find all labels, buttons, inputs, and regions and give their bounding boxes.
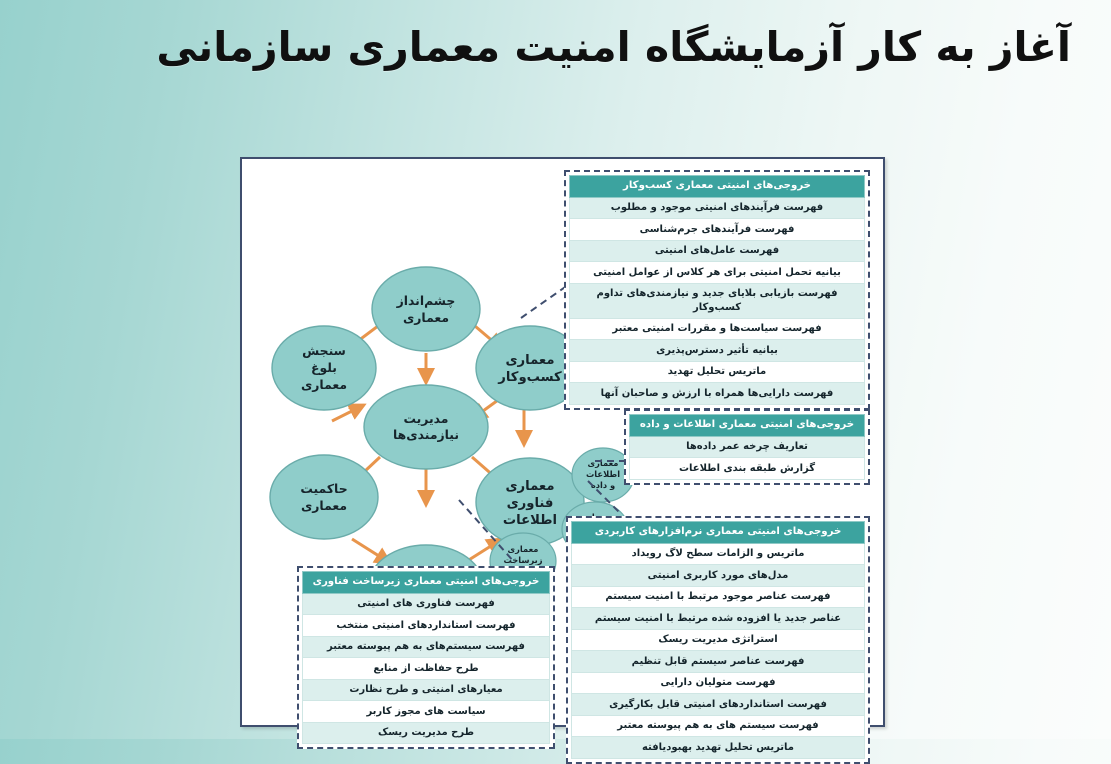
table-row: فهرست فناوری های امنیتی [303, 593, 550, 615]
node-center-label-line1: مدیریت [404, 411, 449, 426]
node-vision-label-line2: معماری [403, 310, 449, 325]
table-business-body: فهرست فرآیندهای امنیتی موجود و مطلوب فهر… [570, 197, 865, 404]
node-business-label-line1: معماری [505, 353, 554, 368]
table-row: فهرست عامل‌های امنیتی [570, 240, 865, 262]
table-row: فهرست سیستم‌های به هم پیوسته معتبر [303, 636, 550, 658]
node-maturity-label-line1: سنجش [302, 343, 346, 358]
table-row: مدل‌های مورد کاربری امنیتی [572, 565, 865, 587]
table-row: ماتریس و الزامات سطح لاگ رویداد [572, 543, 865, 565]
table-row: فهرست فرآیندهای امنیتی موجود و مطلوب [570, 197, 865, 219]
table-row: فهرست متولیان دارایی [572, 672, 865, 694]
table-row: طرح حفاظت از منابع [303, 658, 550, 680]
node-maturity-label-line2: بلوغ [311, 360, 337, 375]
table-row: فهرست استانداردهای امنیتی منتخب [303, 615, 550, 637]
node-maturity-label-line3: معماری [301, 377, 347, 392]
table-row: فهرست فرآیندهای جرم‌شناسی [570, 219, 865, 241]
table-business-header: خروجی‌های امنیتی معماری کسب‌وکار [570, 176, 865, 198]
node-architecture-vision[interactable] [372, 267, 480, 351]
table-data-header: خروجی‌های امنیتی معماری اطلاعات و داده [630, 415, 865, 437]
table-row: سیاست های مجوز کاربر [303, 701, 550, 723]
node-it-label-line2: فناوری [507, 496, 554, 511]
table-apps-header: خروجی‌های امنیتی معماری نرم‌افزارهای کار… [572, 522, 865, 544]
node-governance-label-line2: معماری [301, 498, 347, 513]
table-application-security-outputs: خروجی‌های امنیتی معماری نرم‌افزارهای کار… [566, 516, 870, 764]
table-row: فهرست دارایی‌ها همراه با ارزش و صاحبان آ… [570, 383, 865, 405]
table-data-body: تعاریف چرخه عمر داده‌ها گزارش طبقه بندی … [630, 436, 865, 479]
table-row: فهرست بازیابی بلایای جدید و نیازمندی‌های… [570, 283, 865, 318]
table-row: فهرست سیستم های به هم پیوسته معتبر [572, 715, 865, 737]
table-row: ماتریس تحلیل تهدید بهبودیافته [572, 737, 865, 759]
node-data-arch-label-line2: اطلاعات [586, 469, 620, 479]
node-architecture-governance[interactable] [270, 455, 378, 539]
table-business-security-outputs: خروجی‌های امنیتی معماری کسب‌وکار فهرست ف… [564, 170, 870, 410]
table-row: فهرست استانداردهای امنیتی قابل بکارگیری [572, 694, 865, 716]
table-data-security-outputs: خروجی‌های امنیتی معماری اطلاعات و داده ت… [624, 409, 870, 485]
table-infra-header: خروجی‌های امنیتی معماری زیرساخت فناوری [303, 572, 550, 594]
table-row: فهرست سیاست‌ها و مقررات امنیتی معتبر [570, 318, 865, 340]
table-infrastructure-security-outputs: خروجی‌های امنیتی معماری زیرساخت فناوری ف… [297, 566, 555, 749]
node-vision-label-line1: چشم‌انداز [396, 293, 456, 308]
table-row: فهرست عناصر موجود مرتبط با امنیت سیستم [572, 586, 865, 608]
table-row: عناصر جدید یا افزوده شده مرتبط با امنیت … [572, 608, 865, 630]
page-title-wrap: آغاز به کار آزمایشگاه امنیت معماری سازما… [0, 22, 1085, 72]
node-infra-arch-label-line2: زیرساخت [503, 555, 542, 566]
node-business-label-line2: کسب‌وکار [497, 370, 562, 385]
table-row: بیانیه تأثیر دسترس‌پذیری [570, 340, 865, 362]
node-governance-label-line1: حاکمیت [300, 481, 347, 496]
table-row: گزارش طبقه بندی اطلاعات [630, 458, 865, 480]
table-row: فهرست عناصر سیستم قابل تنظیم [572, 651, 865, 673]
node-it-label-line3: اطلاعات [503, 513, 557, 528]
node-data-arch-label-line3: و داده [591, 480, 615, 491]
node-infra-arch-label-line1: معماری [508, 544, 539, 555]
table-row: معیارهای امنیتی و طرح نظارت [303, 679, 550, 701]
node-data-arch-label-line1: معماری [588, 458, 619, 469]
table-row: استراتژی مدیریت ریسک [572, 629, 865, 651]
table-row: طرح مدیریت ریسک [303, 722, 550, 744]
table-row: تعاریف چرخه عمر داده‌ها [630, 436, 865, 458]
table-apps-body: ماتریس و الزامات سطح لاگ رویداد مدل‌های … [572, 543, 865, 758]
table-row: ماتریس تحلیل تهدید [570, 361, 865, 383]
page-title: آغاز به کار آزمایشگاه امنیت معماری سازما… [156, 22, 1085, 72]
table-infra-body: فهرست فناوری های امنیتی فهرست استاندارده… [303, 593, 550, 744]
table-row: بیانیه تحمل امنیتی برای هر کلاس از عوامل… [570, 262, 865, 284]
node-center-label-line2: نیازمندی‌ها [393, 427, 459, 442]
node-it-label-line1: معماری [505, 479, 554, 494]
